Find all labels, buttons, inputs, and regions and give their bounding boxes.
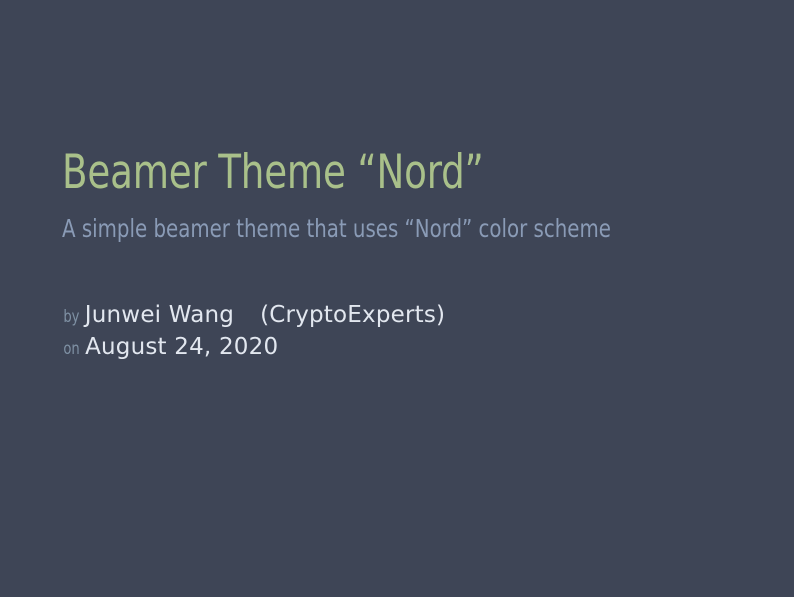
on-label: on	[63, 339, 79, 359]
page-subtitle: A simple beamer theme that uses “Nord” c…	[62, 198, 678, 244]
date-line: on August 24, 2020	[62, 334, 762, 366]
author-institute: (CryptoExperts)	[234, 302, 445, 328]
author-name: Junwei Wang	[85, 302, 234, 328]
author-line: by Junwei Wang (CryptoExperts)	[62, 302, 762, 334]
author-block: by Junwei Wang (CryptoExperts) on August…	[62, 302, 762, 366]
titlepage-block: Beamer Theme “Nord” A simple beamer them…	[62, 148, 762, 244]
title-slide: Beamer Theme “Nord” A simple beamer them…	[0, 0, 794, 597]
page-title: Beamer Theme “Nord”	[62, 148, 678, 198]
date-value: August 24, 2020	[85, 334, 278, 360]
by-label: by	[63, 307, 79, 327]
